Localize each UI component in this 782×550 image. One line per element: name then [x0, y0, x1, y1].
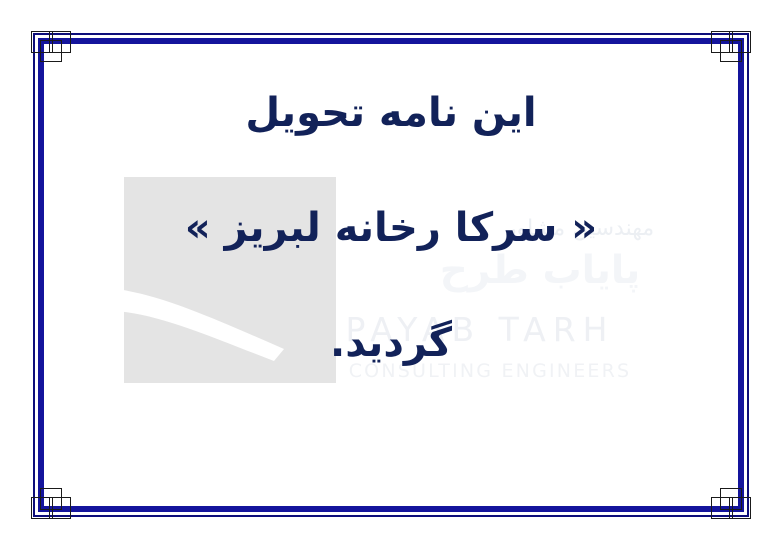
document-text-line-2: « سرکا رخانه لبریز »	[46, 206, 736, 250]
document-body: این نامه تحویل « سرکا رخانه لبریز » گردی…	[46, 46, 736, 504]
document-text-line-3: گردید.	[46, 321, 736, 365]
document-text-line-1: این نامه تحویل	[46, 91, 736, 135]
document-page: مهندسین مشاور پایاب طرح PAYAB TARH CONSU…	[0, 0, 782, 550]
